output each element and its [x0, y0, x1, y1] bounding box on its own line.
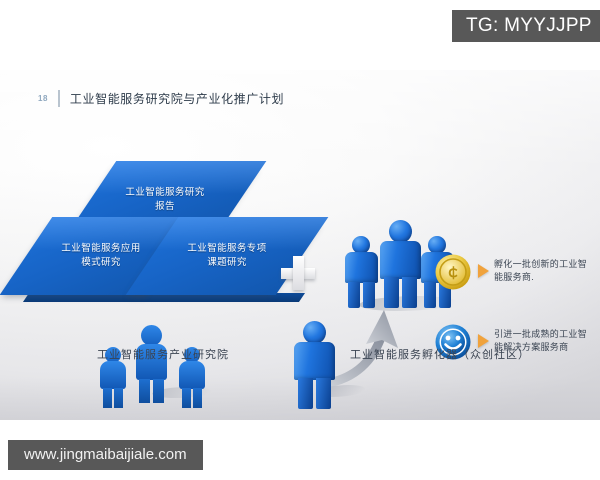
person-leg: [348, 282, 360, 308]
person-body: [179, 361, 205, 389]
person-leg: [193, 388, 202, 408]
person-3d-left-icon: [345, 236, 378, 283]
title-divider: [58, 90, 60, 107]
institute-people-group: [95, 325, 210, 405]
site-watermark: www.jingmaibaijiale.com: [8, 440, 203, 470]
block-label-right-line1: 工业智能服务专项: [187, 243, 266, 255]
caption-incubator: 工业智能服务孵化器（众创社区）: [350, 346, 530, 362]
person-torso: [345, 252, 378, 283]
person-leg: [384, 277, 399, 308]
pyramid-block-right: 工业智能服务专项 课题研究: [152, 217, 302, 295]
person-torso: [294, 342, 335, 380]
person-leg: [363, 282, 375, 308]
person-leg: [139, 379, 150, 403]
plus-sign-icon: [281, 256, 315, 290]
person-3d-center-icon: [380, 220, 421, 279]
screenshot-root: TG: MYYJJPP 18 工业智能服务研究院与产业化推广计划 工业智能服务研…: [0, 0, 600, 480]
person-leg: [114, 388, 123, 408]
caption-research-institute: 工业智能服务产业研究院: [97, 346, 229, 362]
telegram-watermark: TG: MYYJJPP: [452, 10, 600, 42]
person-torso: [380, 241, 421, 279]
person-leg: [316, 378, 331, 409]
slide-number: 18: [38, 94, 48, 104]
single-person-figure: [294, 321, 335, 380]
presentation-slide: 18 工业智能服务研究院与产业化推广计划 工业智能服务研究 报告 工业智能服务应…: [0, 70, 600, 420]
person-body: [100, 361, 126, 389]
person-head: [303, 321, 326, 344]
svg-text:￠: ￠: [445, 265, 460, 282]
person-leg: [182, 388, 191, 408]
block-label-top-line1: 工业智能服务研究: [125, 187, 204, 199]
block-label-left-line1: 工业智能服务应用: [61, 243, 140, 255]
annotation-incubate: ￠ 孵化一批创新的工业智能服务商.: [433, 252, 590, 292]
slide-title: 工业智能服务研究院与产业化推广计划: [70, 90, 284, 107]
gold-coin-icon: ￠: [433, 252, 473, 292]
slide-title-row: 18 工业智能服务研究院与产业化推广计划: [38, 90, 284, 107]
plus-vertical-bar: [293, 256, 304, 290]
person-leg: [153, 379, 164, 403]
annotation-incubate-text: 孵化一批创新的工业智能服务商.: [494, 252, 590, 284]
block-label-right: 工业智能服务专项 课题研究: [152, 217, 302, 295]
person-leg: [103, 388, 112, 408]
block-label-top-line2: 报告: [155, 201, 175, 213]
person-head: [389, 220, 412, 243]
person-leg: [402, 277, 417, 308]
person-head: [141, 325, 162, 346]
person-leg: [298, 378, 313, 409]
block-label-left-line2: 模式研究: [81, 257, 121, 269]
arrow-marker-icon: [478, 264, 489, 278]
block-label-right-line2: 课题研究: [207, 257, 247, 269]
single-person-3d-icon: [294, 321, 338, 403]
